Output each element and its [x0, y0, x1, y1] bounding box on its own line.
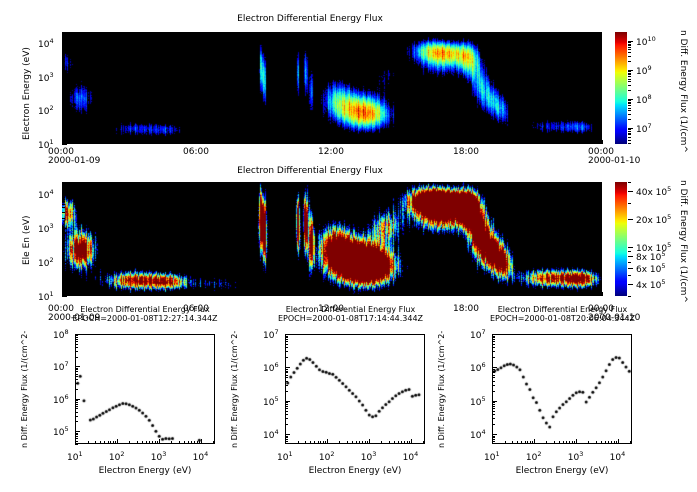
cb-top-minor: [628, 73, 631, 74]
spec-yminor: [62, 51, 65, 52]
b3-xtick-2: [534, 439, 535, 444]
spec-xminor-mid: [355, 293, 356, 296]
cb-top-minor: [628, 85, 631, 86]
b1-yminor: [75, 335, 78, 336]
spec-xminor: [512, 141, 513, 144]
b3-xminor: [566, 441, 567, 444]
b2-xminor: [318, 441, 319, 444]
spec-yminor: [62, 199, 65, 200]
b2-yminor: [285, 347, 288, 348]
b3-ylabel-7: 107: [470, 328, 486, 341]
b3-ylabel-4: 104: [470, 428, 486, 441]
cb-top-minor: [628, 61, 631, 62]
cb-mid-minor: [628, 268, 631, 269]
spec-yminor: [62, 100, 65, 101]
b2-ylabel-4: 104: [263, 428, 279, 441]
b3-yminor: [492, 351, 495, 352]
spec-yminor: [62, 118, 65, 119]
b1-xlabel-4: 104: [193, 450, 209, 463]
cb-top-minor: [628, 52, 631, 53]
b2-xminor: [320, 441, 321, 444]
spec-ytickmark-top-2: [62, 110, 67, 111]
cb-mid-label-4: 6x 105: [636, 262, 666, 275]
cb-mid-label-5: 4x 105: [636, 278, 666, 291]
cb-top-minor: [628, 100, 631, 101]
spec-xminor: [287, 141, 288, 144]
spec-xminor: [175, 141, 176, 144]
b3-yminor: [492, 357, 495, 358]
cb-top-minor: [628, 140, 631, 141]
b2-xminor: [362, 441, 363, 444]
b2-yminor: [285, 341, 288, 342]
b1-xminor: [113, 441, 114, 444]
b1-xminor: [188, 441, 189, 444]
spec-xminor-mid: [467, 293, 468, 296]
b1-xminor: [199, 441, 200, 444]
b2-yminor: [285, 414, 288, 415]
mid-panel-title: Electron Differential Energy Flux: [0, 166, 620, 176]
b2-xlabel-1: 101: [277, 450, 293, 463]
cb-mid-minor: [628, 182, 631, 183]
b2-xminor: [394, 441, 395, 444]
b2-xminor: [381, 441, 382, 444]
b1-ytick-7: [75, 366, 80, 367]
b1-yminor: [75, 406, 78, 407]
cb-top-minor: [628, 134, 631, 135]
cb-mid-minor: [628, 251, 631, 252]
b2-yminor: [285, 424, 288, 425]
cb-top-minor: [628, 56, 631, 57]
spec-yminor: [62, 95, 65, 96]
spec-xminor-mid: [62, 293, 63, 296]
spec-yminor: [62, 231, 65, 232]
cb-top-minor: [628, 74, 631, 75]
cb-top-label-8: 108: [636, 93, 652, 106]
spec-xminor-mid: [242, 293, 243, 296]
spec-xminor: [220, 141, 221, 144]
b3-xlabel-2: 102: [526, 450, 542, 463]
spec-xminor-mid: [580, 293, 581, 296]
b2-xminor: [389, 441, 390, 444]
spec-yminor: [62, 47, 65, 48]
b2-yminor: [285, 402, 288, 403]
spec-xminor-mid: [445, 293, 446, 296]
spectrum-middle-xlabel: Electron Energy (eV): [285, 466, 425, 476]
cb-top-minor: [628, 137, 631, 138]
spec-xminor-mid: [197, 293, 198, 296]
b3-xminor: [614, 441, 615, 444]
spec-ytick-top-4: 104: [38, 37, 54, 50]
spec-yminor: [62, 87, 65, 88]
b2-xminor: [323, 441, 324, 444]
b3-xminor: [596, 441, 597, 444]
b1-yminor: [75, 376, 78, 377]
cb-top-minor: [628, 49, 631, 50]
b1-yminor: [75, 357, 78, 358]
b3-yminor: [492, 414, 495, 415]
b1-xminor: [194, 441, 195, 444]
b1-xtick-4: [201, 439, 202, 444]
spec-xminor: [580, 141, 581, 144]
b1-yminor: [75, 341, 78, 342]
mid-panel-ylabel: Ele En (eV): [22, 215, 32, 265]
b3-xlabel-4: 104: [610, 450, 626, 463]
spec-yminor: [62, 33, 65, 34]
spec-xdate-right-mid: 2000-01-10: [588, 313, 640, 323]
cb-mid-minor: [628, 275, 631, 276]
b1-xminor: [155, 441, 156, 444]
b1-xlabel-2: 102: [109, 450, 125, 463]
b1-yminor: [75, 383, 78, 384]
spec-xminor: [445, 141, 446, 144]
b3-yminor: [492, 375, 495, 376]
b2-xminor: [359, 441, 360, 444]
cb-mid-minor: [628, 296, 631, 297]
spec-yminor: [62, 275, 65, 276]
cb-mid-minor: [628, 262, 631, 263]
cb-top-minor: [628, 119, 631, 120]
b1-xminor: [88, 441, 89, 444]
b3-xminor: [525, 441, 526, 444]
spec-yminor: [62, 183, 65, 184]
cb-top-label-9: 109: [636, 64, 652, 77]
b1-yminor: [75, 371, 78, 372]
b2-yminor: [285, 408, 288, 409]
b1-xminor: [100, 441, 101, 444]
b1-yminor: [75, 408, 78, 409]
spec-xminor: [85, 141, 86, 144]
b3-yminor: [492, 408, 495, 409]
b2-xminor: [365, 441, 366, 444]
spec-xminor: [422, 141, 423, 144]
mid-colorbar: [615, 182, 627, 296]
b3-xminor: [554, 441, 555, 444]
b3-xminor: [569, 441, 570, 444]
b1-xminor: [184, 441, 185, 444]
spectrum-middle-epoch: EPOCH=2000-01-08T17:14:44.344Z: [248, 314, 453, 323]
b2-yminor: [285, 375, 288, 376]
spec-yminor: [62, 90, 65, 91]
b1-yminor: [75, 421, 78, 422]
spec-xminor-mid: [557, 293, 558, 296]
spec-xlabel-mid-2: 12:00: [318, 304, 344, 314]
b3-xminor: [512, 441, 513, 444]
b2-xminor: [347, 441, 348, 444]
spec-yminor: [62, 233, 65, 234]
b3-yminor: [492, 337, 495, 338]
b2-xminor: [352, 441, 353, 444]
spec-xminor: [467, 141, 468, 144]
spec-yminor: [62, 218, 65, 219]
spec-yminor: [62, 229, 65, 230]
spec-xminor: [242, 141, 243, 144]
spec-yminor: [62, 241, 65, 242]
b3-xtick-3: [576, 439, 577, 444]
spec-yminor: [62, 114, 65, 115]
spec-yminor: [62, 272, 65, 273]
b1-yminor: [75, 433, 78, 434]
b3-xminor: [521, 441, 522, 444]
b1-yminor: [75, 344, 78, 345]
spec-xminor: [265, 141, 266, 144]
b2-yminor: [285, 339, 288, 340]
b3-xtick-1: [492, 439, 493, 444]
b2-xtick-1: [285, 439, 286, 444]
b1-yminor: [75, 404, 78, 405]
cb-top-minor: [628, 133, 631, 134]
b3-xminor: [563, 441, 564, 444]
b2-xminor: [409, 441, 410, 444]
mid-colorbar-label: n Diff. Energy Flux (1/(cm^: [678, 180, 688, 303]
spec-xminor-mid: [535, 293, 536, 296]
b1-xminor: [115, 441, 116, 444]
b3-xminor: [517, 441, 518, 444]
b1-xminor: [213, 441, 214, 444]
cb-top-label-7: 107: [636, 122, 652, 135]
b2-xminor: [310, 441, 311, 444]
cb-top-minor: [628, 47, 631, 48]
spec-yminor: [62, 265, 65, 266]
b2-yminor: [285, 344, 288, 345]
cb-top-minor: [628, 129, 631, 130]
b2-xminor: [314, 441, 315, 444]
mid-spectrogram-plot[interactable]: [62, 182, 602, 296]
spec-xminor-mid: [265, 293, 266, 296]
top-panel-title: Electron Differential Energy Flux: [0, 14, 620, 24]
b1-yminor: [75, 444, 78, 445]
b3-yminor: [492, 436, 495, 437]
b3-yminor: [492, 381, 495, 382]
spec-yminor: [62, 128, 65, 129]
b1-xminor: [146, 441, 147, 444]
top-panel-ylabel: Electron Energy (eV): [22, 47, 32, 140]
spectrum-left-plot[interactable]: [75, 334, 215, 444]
b2-ylabel-5: 105: [263, 395, 279, 408]
b1-xminor: [108, 441, 109, 444]
b3-xminor: [527, 441, 528, 444]
b1-yminor: [75, 337, 78, 338]
b3-ylabel-5: 105: [470, 395, 486, 408]
b2-xlabel-3: 103: [361, 450, 377, 463]
b2-yminor: [285, 372, 288, 373]
b1-yminor: [75, 369, 78, 370]
spec-yminor: [62, 195, 65, 196]
b1-ytick-5: [75, 431, 80, 432]
spectrum-left-xlabel: Electron Energy (eV): [75, 466, 215, 476]
spec-yminor: [62, 121, 65, 122]
b1-ylabel-7: 107: [53, 360, 69, 373]
b2-yminor: [285, 357, 288, 358]
b3-ytick-4: [492, 434, 497, 435]
cb-mid-label-0: 40x 105: [636, 185, 671, 198]
b3-xminor: [605, 441, 606, 444]
cb-mid-minor: [628, 256, 631, 257]
spec-yminor: [62, 197, 65, 198]
b3-yminor: [492, 339, 495, 340]
spec-yminor: [62, 82, 65, 83]
spec-xdate-left-mid: 2000-01-09: [48, 313, 100, 323]
spec-xminor-mid: [512, 293, 513, 296]
b3-xminor: [530, 441, 531, 444]
b1-xminor: [179, 441, 180, 444]
spec-xminor-mid: [287, 293, 288, 296]
spec-yminor: [62, 263, 65, 264]
spec-ytick-mid-1: 101: [38, 290, 54, 303]
spec-xlabel-top-1: 06:00: [183, 147, 209, 157]
cb-top-minor: [628, 110, 631, 111]
cb-top-minor: [628, 44, 631, 45]
spec-ytickmark-top-3: [62, 77, 67, 78]
spectrum-left-ylabel: n Diff. Energy Flux (1/(cm^2-: [20, 331, 29, 448]
b2-yminor: [285, 406, 288, 407]
b2-yminor: [285, 369, 288, 370]
spec-yminor: [62, 79, 65, 80]
spec-xminor-mid: [85, 293, 86, 296]
b3-xminor: [572, 441, 573, 444]
b3-ytick-6: [492, 367, 497, 368]
spec-xminor-mid: [377, 293, 378, 296]
spec-xminor-mid: [152, 293, 153, 296]
b1-xminor: [129, 441, 130, 444]
b1-xminor: [142, 441, 143, 444]
top-colorbar: [615, 32, 627, 144]
b2-xminor: [407, 441, 408, 444]
cb-mid-minor: [628, 203, 631, 204]
spec-xminor-mid: [332, 293, 333, 296]
spec-yminor: [62, 45, 65, 46]
cb-mid-label-1: 20x 105: [636, 213, 671, 226]
spec-ytickmark-top-4: [62, 43, 67, 44]
b2-yminor: [285, 371, 288, 372]
b3-xminor: [601, 441, 602, 444]
spec-yminor: [62, 54, 65, 55]
spec-xminor-mid: [310, 293, 311, 296]
cb-mid-minor: [628, 247, 631, 248]
spec-yminor: [62, 61, 65, 62]
spec-yminor: [62, 246, 65, 247]
b1-xminor: [197, 441, 198, 444]
b1-xminor: [137, 441, 138, 444]
spec-yminor: [62, 124, 65, 125]
b2-yminor: [285, 336, 288, 337]
b3-xminor: [546, 441, 547, 444]
b1-yminor: [75, 434, 78, 435]
spec-xminor-mid: [602, 293, 603, 296]
spec-xminor: [152, 141, 153, 144]
spec-xminor: [332, 141, 333, 144]
b2-yminor: [285, 377, 288, 378]
b2-xminor: [423, 441, 424, 444]
b3-yminor: [492, 391, 495, 392]
b1-xlabel-1: 101: [67, 450, 83, 463]
b2-yminor: [285, 381, 288, 382]
b3-yminor: [492, 424, 495, 425]
spec-yminor: [62, 49, 65, 50]
b2-xminor: [356, 441, 357, 444]
spec-xdate-left-top: 2000-01-09: [48, 156, 100, 166]
spec-xlabel-mid-3: 18:00: [453, 304, 479, 314]
b1-ylabel-6: 106: [53, 393, 69, 406]
cb-top-label-10: 1010: [636, 35, 656, 48]
spec-yminor: [62, 280, 65, 281]
cb-top-minor: [628, 71, 631, 72]
spectrum-middle-plot[interactable]: [285, 334, 425, 444]
b3-xminor: [608, 441, 609, 444]
b2-xtick-4: [411, 439, 412, 444]
spec-yminor: [62, 269, 65, 270]
b3-yminor: [492, 402, 495, 403]
b1-yminor: [75, 368, 78, 369]
b1-ylabel-8: 108: [53, 328, 69, 341]
spec-xlabel-mid-1: 06:00: [183, 304, 209, 314]
b3-yminor: [492, 369, 495, 370]
b2-ylabel-7: 107: [263, 328, 279, 341]
b2-xminor: [325, 441, 326, 444]
b2-yminor: [285, 337, 288, 338]
b3-xminor: [532, 441, 533, 444]
cb-top-minor: [628, 81, 631, 82]
spec-xminor: [197, 141, 198, 144]
b3-xminor: [611, 441, 612, 444]
b2-xtick-2: [327, 439, 328, 444]
cb-top-minor: [628, 79, 631, 80]
b1-yminor: [75, 436, 78, 437]
b3-xminor: [588, 441, 589, 444]
b3-yminor: [492, 347, 495, 348]
spec-yminor: [62, 84, 65, 85]
b2-yminor: [285, 385, 288, 386]
b2-ytick-4: [285, 434, 290, 435]
b1-yminor: [75, 339, 78, 340]
b3-ylabel-6: 106: [470, 361, 486, 374]
spec-xminor: [602, 141, 603, 144]
b1-yminor: [75, 416, 78, 417]
b2-xminor: [398, 441, 399, 444]
spectrum-right-plot[interactable]: [492, 334, 632, 444]
cb-top-minor: [628, 114, 631, 115]
spec-yminor: [62, 212, 65, 213]
spec-xlabel-top-2: 12:00: [318, 147, 344, 157]
spec-xminor-mid: [400, 293, 401, 296]
spec-xminor-mid: [175, 293, 176, 296]
b1-yminor: [75, 379, 78, 380]
b2-ylabel-6: 106: [263, 361, 279, 374]
b1-xminor: [110, 441, 111, 444]
cb-mid-minor: [628, 191, 631, 192]
spec-yminor: [62, 207, 65, 208]
top-spectrogram-plot[interactable]: [62, 32, 602, 144]
spec-yminor: [62, 67, 65, 68]
spec-xminor: [130, 141, 131, 144]
spectrum-right-ylabel: n Diff. Energy Flux (1/(cm^2-: [437, 331, 446, 448]
spec-xminor-mid: [220, 293, 221, 296]
b1-xminor: [157, 441, 158, 444]
b1-xlabel-3: 103: [151, 450, 167, 463]
b3-xminor: [616, 441, 617, 444]
spec-xminor-mid: [490, 293, 491, 296]
b1-xminor: [152, 441, 153, 444]
b3-yminor: [492, 372, 495, 373]
spectrum-middle-title: Electron Differential Energy Flux: [248, 305, 453, 314]
b3-yminor: [492, 385, 495, 386]
cb-top-minor: [628, 76, 631, 77]
b2-yminor: [285, 411, 288, 412]
spec-yminor: [62, 286, 65, 287]
spec-xminor: [310, 141, 311, 144]
spec-xminor: [107, 141, 108, 144]
b3-yminor: [492, 371, 495, 372]
cb-top-minor: [628, 143, 631, 144]
